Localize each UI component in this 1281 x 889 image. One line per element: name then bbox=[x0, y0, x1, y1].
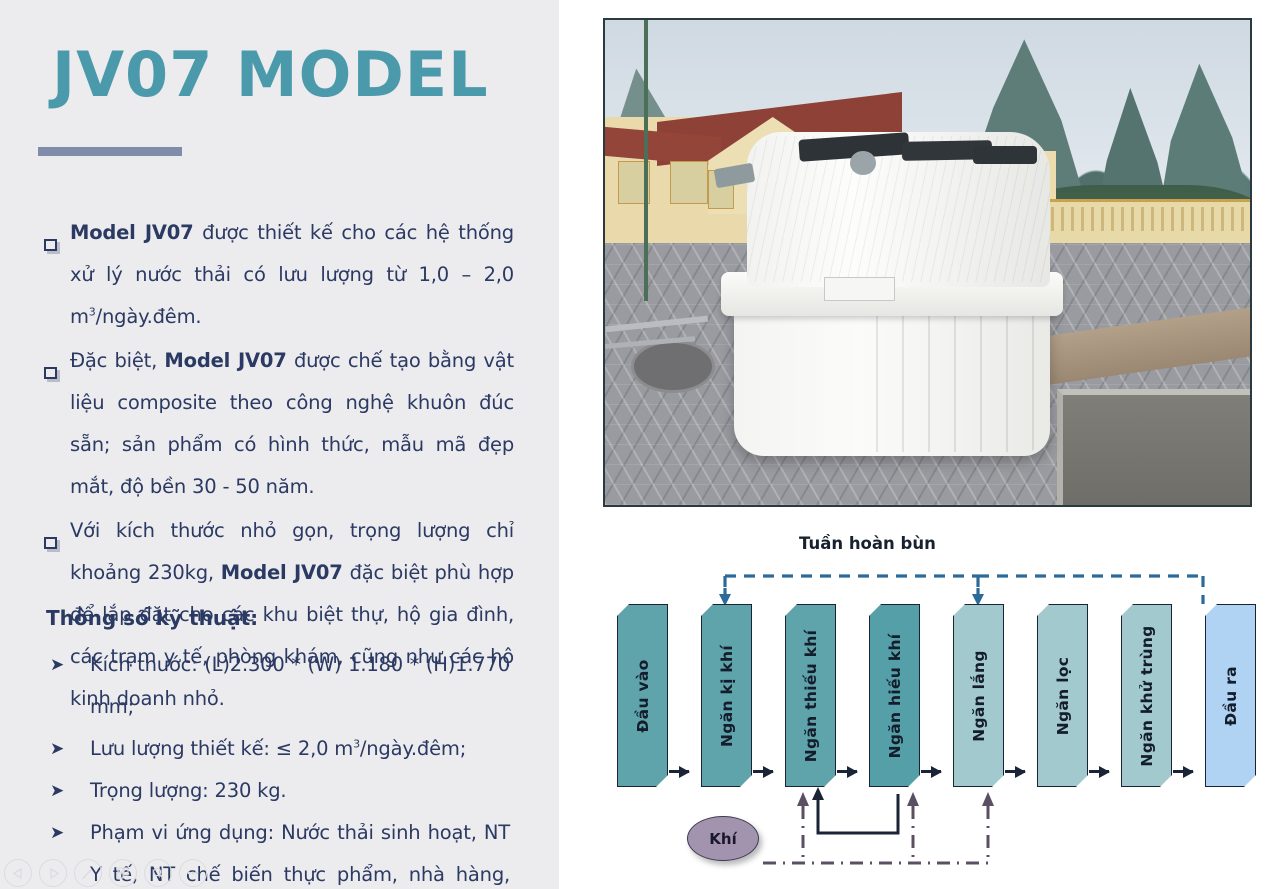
flow-arrow bbox=[1089, 770, 1109, 773]
title-underline-rule bbox=[38, 147, 182, 156]
process-stage-label: Đầu ra bbox=[1222, 666, 1240, 726]
spec-text: Lưu lượng thiết kế: ≤ 2,0 m3/ngày.đêm; bbox=[90, 728, 510, 770]
process-stage-box: Ngăn lắng bbox=[953, 604, 1004, 787]
process-stage-label: Ngăn lọc bbox=[1054, 656, 1072, 735]
photo-manhole-cover bbox=[631, 340, 715, 393]
process-stage-label: Đầu vào bbox=[634, 659, 652, 732]
spec-item: ➤Kích thước: (L)2.300 * (W) 1.180 * (H)1… bbox=[50, 644, 510, 728]
bullet-text: Đặc biệt, Model JV07 được chế tạo bằng v… bbox=[70, 340, 514, 508]
process-stage-box: Đầu ra bbox=[1205, 604, 1256, 787]
spec-text: Trọng lượng: 230 kg. bbox=[90, 770, 510, 812]
process-stage-box: Ngăn thiếu khí bbox=[785, 604, 836, 787]
photo-concrete-pit bbox=[1057, 389, 1253, 507]
left-content-panel: JV07 MODEL Model JV07 được thiết kế cho … bbox=[0, 0, 559, 889]
arrow-bullet-icon: ➤ bbox=[50, 728, 90, 770]
photo-wall-balusters bbox=[1044, 207, 1252, 231]
product-photo bbox=[603, 18, 1252, 507]
previous-slide-button[interactable] bbox=[4, 859, 32, 887]
flow-arrow bbox=[669, 770, 689, 773]
flow-arrow bbox=[837, 770, 857, 773]
spec-item: ➤Lưu lượng thiết kế: ≤ 2,0 m3/ngày.đêm; bbox=[50, 728, 510, 770]
process-stage-label: Ngăn kị khí bbox=[718, 645, 736, 747]
next-slide-button[interactable] bbox=[39, 859, 67, 887]
process-stage-label: Ngăn thiếu khí bbox=[802, 629, 820, 762]
spec-text: Kích thước: (L)2.300 * (W) 1.180 * (H)1.… bbox=[90, 644, 510, 728]
photo-tank-ribs bbox=[876, 306, 1050, 452]
more-options-button[interactable] bbox=[179, 859, 207, 887]
photo-window-2 bbox=[670, 161, 709, 205]
bullet-text: Model JV07 được thiết kế cho các hệ thốn… bbox=[70, 212, 514, 338]
zoom-tool-button[interactable] bbox=[144, 859, 172, 887]
bullet-item: Đặc biệt, Model JV07 được chế tạo bằng v… bbox=[44, 340, 514, 508]
air-blower-node: Khí bbox=[687, 816, 759, 861]
process-stage-label: Ngăn lắng bbox=[970, 650, 988, 742]
spec-list: ➤Kích thước: (L)2.300 * (W) 1.180 * (H)1… bbox=[50, 644, 510, 889]
flow-arrow bbox=[753, 770, 773, 773]
process-flow-diagram: Tuần hoàn bùn bbox=[603, 528, 1263, 883]
flow-arrow bbox=[921, 770, 941, 773]
presentation-toolbar[interactable] bbox=[4, 859, 207, 887]
bullet-item: Model JV07 được thiết kế cho các hệ thốn… bbox=[44, 212, 514, 338]
process-stage-box: Đầu vào bbox=[617, 604, 668, 787]
photo-tank-port-1 bbox=[850, 151, 876, 175]
grid-view-button[interactable] bbox=[109, 859, 137, 887]
process-stage-box: Ngăn hiếu khí bbox=[869, 604, 920, 787]
photo-product-label bbox=[824, 277, 895, 301]
spec-heading: Thông số kỹ thuật: bbox=[46, 606, 258, 630]
process-stage-box: Ngăn lọc bbox=[1037, 604, 1088, 787]
arrow-bullet-icon: ➤ bbox=[50, 770, 90, 812]
process-stage-box: Ngăn kị khí bbox=[701, 604, 752, 787]
process-stage-label: Ngăn khử trùng bbox=[1138, 625, 1156, 766]
flow-arrow bbox=[1005, 770, 1025, 773]
photo-tank-cap-3 bbox=[973, 146, 1038, 163]
flow-arrow bbox=[1173, 770, 1193, 773]
spec-item: ➤Trọng lượng: 230 kg. bbox=[50, 770, 510, 812]
slide-root: JV07 MODEL Model JV07 được thiết kế cho … bbox=[0, 0, 1281, 889]
process-stage-box: Ngăn khử trùng bbox=[1121, 604, 1172, 787]
arrow-bullet-icon: ➤ bbox=[50, 644, 90, 728]
page-title: JV07 MODEL bbox=[52, 42, 489, 107]
pen-tool-button[interactable] bbox=[74, 859, 102, 887]
diagram-box-row: Đầu vàoNgăn kị khíNgăn thiếu khíNgăn hiế… bbox=[603, 604, 1263, 794]
photo-pole bbox=[644, 20, 649, 301]
square-bullet-icon bbox=[44, 339, 70, 507]
process-stage-label: Ngăn hiếu khí bbox=[886, 633, 904, 758]
square-bullet-icon bbox=[44, 211, 70, 337]
